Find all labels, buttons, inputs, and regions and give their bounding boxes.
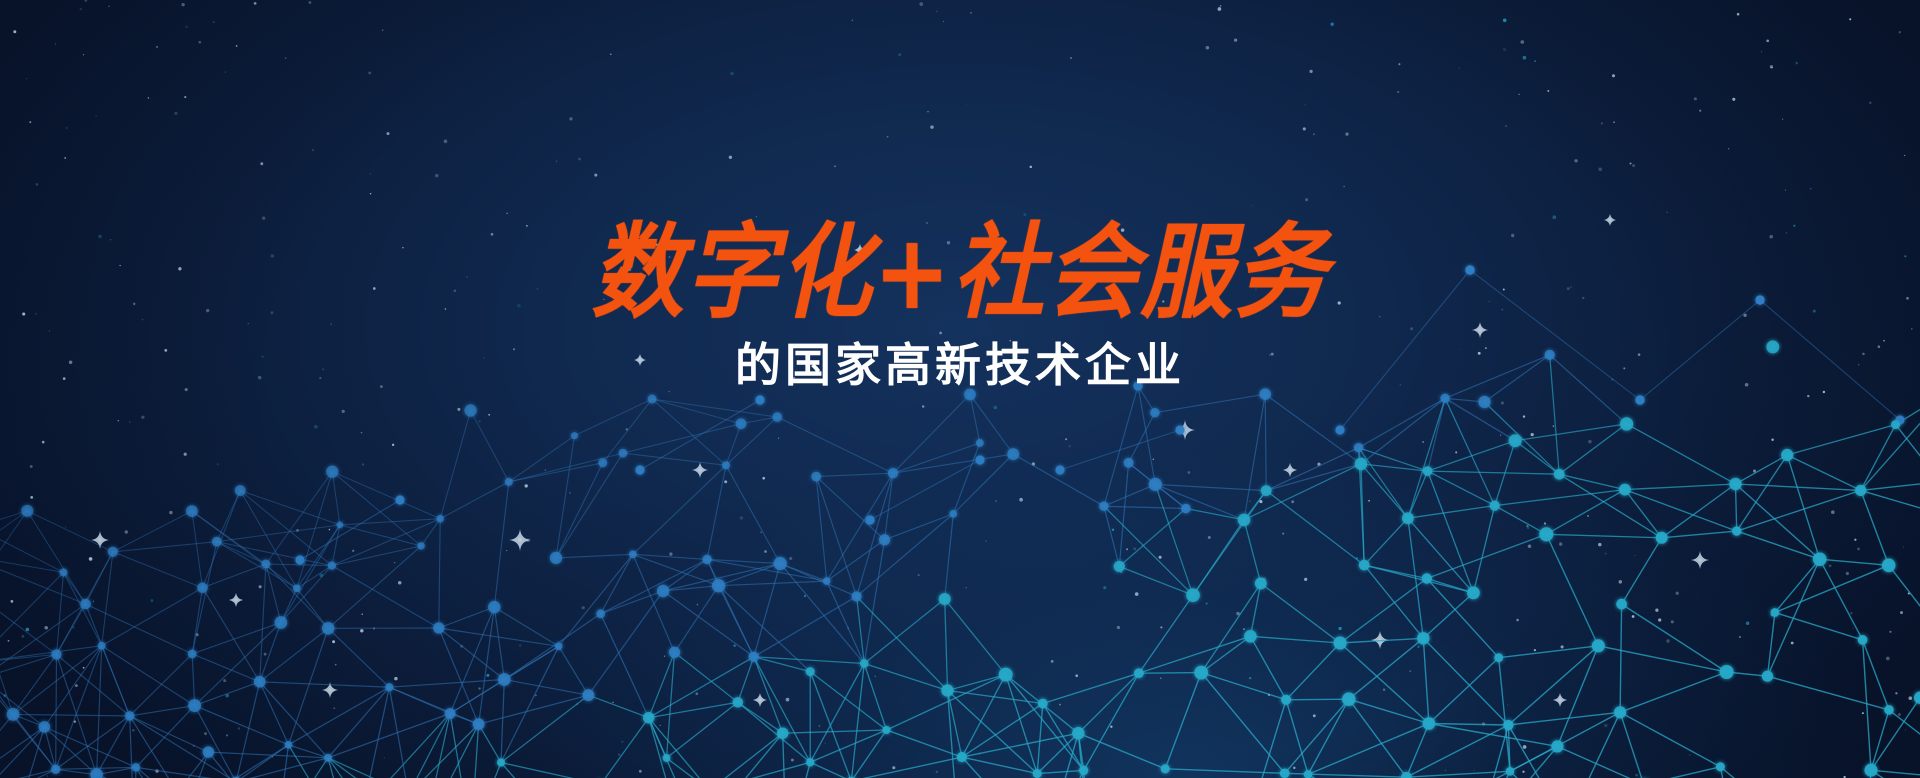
banner-text-block: 数字化+社会服务 的国家高新技术企业 — [0, 222, 1920, 391]
hero-banner: 数字化+社会服务 的国家高新技术企业 — [0, 0, 1920, 778]
banner-headline: 数字化+社会服务 — [0, 222, 1920, 325]
